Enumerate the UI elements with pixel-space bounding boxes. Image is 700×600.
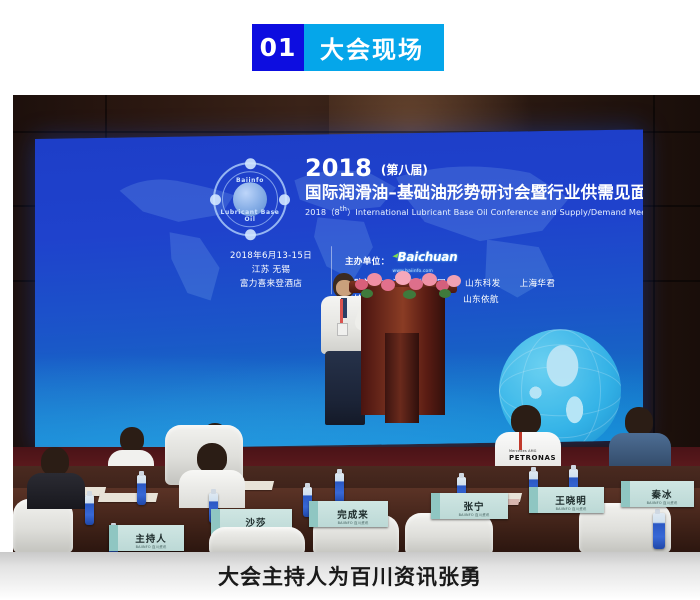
section-number: 01 <box>252 24 304 71</box>
water-bottle <box>335 473 344 503</box>
name-card: 完成来 BAIINFO 百川资讯 <box>309 501 388 527</box>
speaker-badge <box>337 323 348 336</box>
water-bottle <box>653 513 665 549</box>
baichuan-logo-text: Baichuan <box>398 250 458 264</box>
led-title-block: 2018 (第八届) 国际润滑油–基础油形势研讨会暨行业供需见面会 2018（8… <box>305 156 635 218</box>
title-en-sup: th <box>340 206 347 214</box>
name-card-name: 张宁 <box>463 499 484 513</box>
audience-head <box>197 443 227 473</box>
name-card-name: 王晓明 <box>555 493 587 507</box>
chair <box>209 527 305 552</box>
name-card: 张宁 BAIINFO 百川资讯 <box>431 493 508 519</box>
event-venue: 富力喜来登酒店 <box>217 278 325 292</box>
title-en-prefix: 2018（8 <box>305 207 340 217</box>
name-card-sub: BAIINFO 百川资讯 <box>630 500 694 505</box>
header-band: 01 大会现场 <box>0 0 700 95</box>
speaker-lanyard <box>340 299 343 325</box>
sponsor-3: 上海华君 <box>520 279 556 289</box>
emblem-node <box>245 158 256 169</box>
name-card-sub: BAIINFO 百川资讯 <box>440 512 508 517</box>
section-badge: 01 大会现场 <box>252 24 444 71</box>
section-title: 大会现场 <box>304 24 444 71</box>
event-location: 江苏 无锡 <box>217 263 325 277</box>
emblem-bottom-text: Lubricant Base Oil <box>215 209 285 223</box>
conference-title-cn: 国际润滑油–基础油形势研讨会暨行业供需见面会 <box>305 183 635 202</box>
audience-body <box>27 473 85 509</box>
flower-arrangement <box>351 267 467 301</box>
water-bottle <box>85 495 94 525</box>
name-card-name: 主持人 <box>135 531 167 545</box>
name-card-sub: BAIINFO 百川资讯 <box>118 544 184 549</box>
page-root: 01 大会现场 <box>0 0 700 600</box>
petronas-logo: Mercedes AMG PETRONAS <box>509 449 556 462</box>
podium-stem <box>385 333 419 423</box>
conference-title-en: 2018（8th）International Lubricant Base Oi… <box>305 206 635 219</box>
sponsor-2: 山东科发 <box>465 279 501 289</box>
emblem-node <box>245 229 256 240</box>
event-meta-left: 2018年6月13-15日 江苏 无锡 富力喜来登酒店 <box>217 249 325 292</box>
audience-head <box>41 447 69 476</box>
audience-member <box>27 447 85 505</box>
conference-emblem: Baiinfo Lubricant Base Oil <box>213 162 287 236</box>
organizer-label: 主办单位： <box>345 257 389 267</box>
conference-photo: Baiinfo Lubricant Base Oil 2018 (第八届) 国际… <box>13 95 700 552</box>
audience-member <box>108 427 154 471</box>
name-card-name: 秦冰 <box>651 487 672 501</box>
audience-head <box>625 407 653 436</box>
conference-year: 2018 <box>305 156 372 180</box>
petronas-logo-text: PETRONAS <box>509 454 556 462</box>
name-card: 王晓明 BAIINFO 百川资讯 <box>529 487 604 513</box>
name-card: 主持人 BAIINFO 百川资讯 <box>109 525 184 551</box>
petronas-logo-sub: Mercedes AMG <box>509 449 556 453</box>
emblem-top-text: Baiinfo <box>215 177 285 184</box>
event-date: 2018年6月13-15日 <box>217 249 325 263</box>
paper-document <box>98 493 158 502</box>
audience-lanyard <box>519 432 522 450</box>
speaker-trousers <box>325 351 365 425</box>
emblem-node <box>210 194 221 205</box>
name-card: 秦冰 BAIINFO 百川资讯 <box>621 481 694 507</box>
audience-member-petronas: Mercedes AMG PETRONAS <box>495 405 561 469</box>
audience-head <box>511 405 541 435</box>
title-en-rest: ）International Lubricant Base Oil Confer… <box>347 207 643 217</box>
supporter-2: 山东依航 <box>463 296 499 306</box>
name-card-name: 完成来 <box>337 507 369 521</box>
audience-member <box>609 407 671 469</box>
audience-head <box>120 427 144 452</box>
conference-edition: (第八届) <box>381 161 428 180</box>
water-bottle <box>137 475 146 505</box>
name-card-sub: BAIINFO 百川资讯 <box>538 506 604 511</box>
emblem-node <box>279 194 290 205</box>
name-card-sub: BAIINFO 百川资讯 <box>318 520 388 525</box>
photo-caption: 大会主持人为百川资讯张勇 <box>0 552 700 600</box>
leaf-icon <box>392 252 398 258</box>
